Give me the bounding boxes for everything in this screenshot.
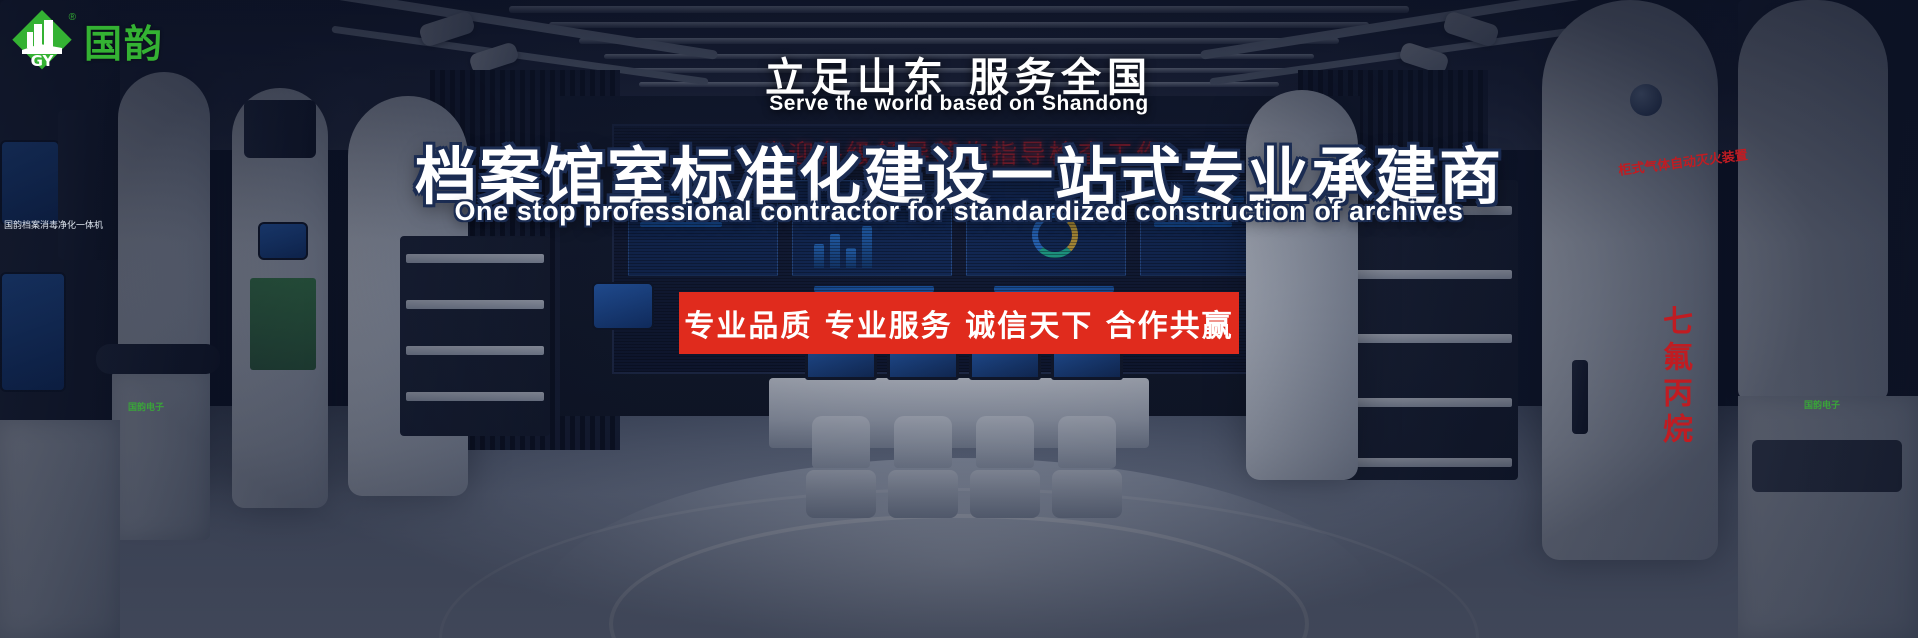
headline-english: Serve the world based on Shandong xyxy=(0,92,1918,116)
page-subtitle-english: One stop professional contractor for sta… xyxy=(0,196,1918,227)
left-device-brand-label: 国韵电子 xyxy=(128,400,164,413)
hero-banner: 欢迎各级领导莅临指导检查工作 xyxy=(0,0,1918,638)
right-device-brand-label: 国韵电子 xyxy=(1804,398,1840,411)
slogan-banner-text: 专业品质 专业服务 诚信天下 合作共赢 xyxy=(684,301,1233,345)
registered-trademark-icon: ® xyxy=(69,12,76,23)
slogan-banner: 专业品质 专业服务 诚信天下 合作共赢 xyxy=(679,292,1239,354)
heptafluoropropane-label: 七氟丙烷 xyxy=(1652,305,1696,449)
